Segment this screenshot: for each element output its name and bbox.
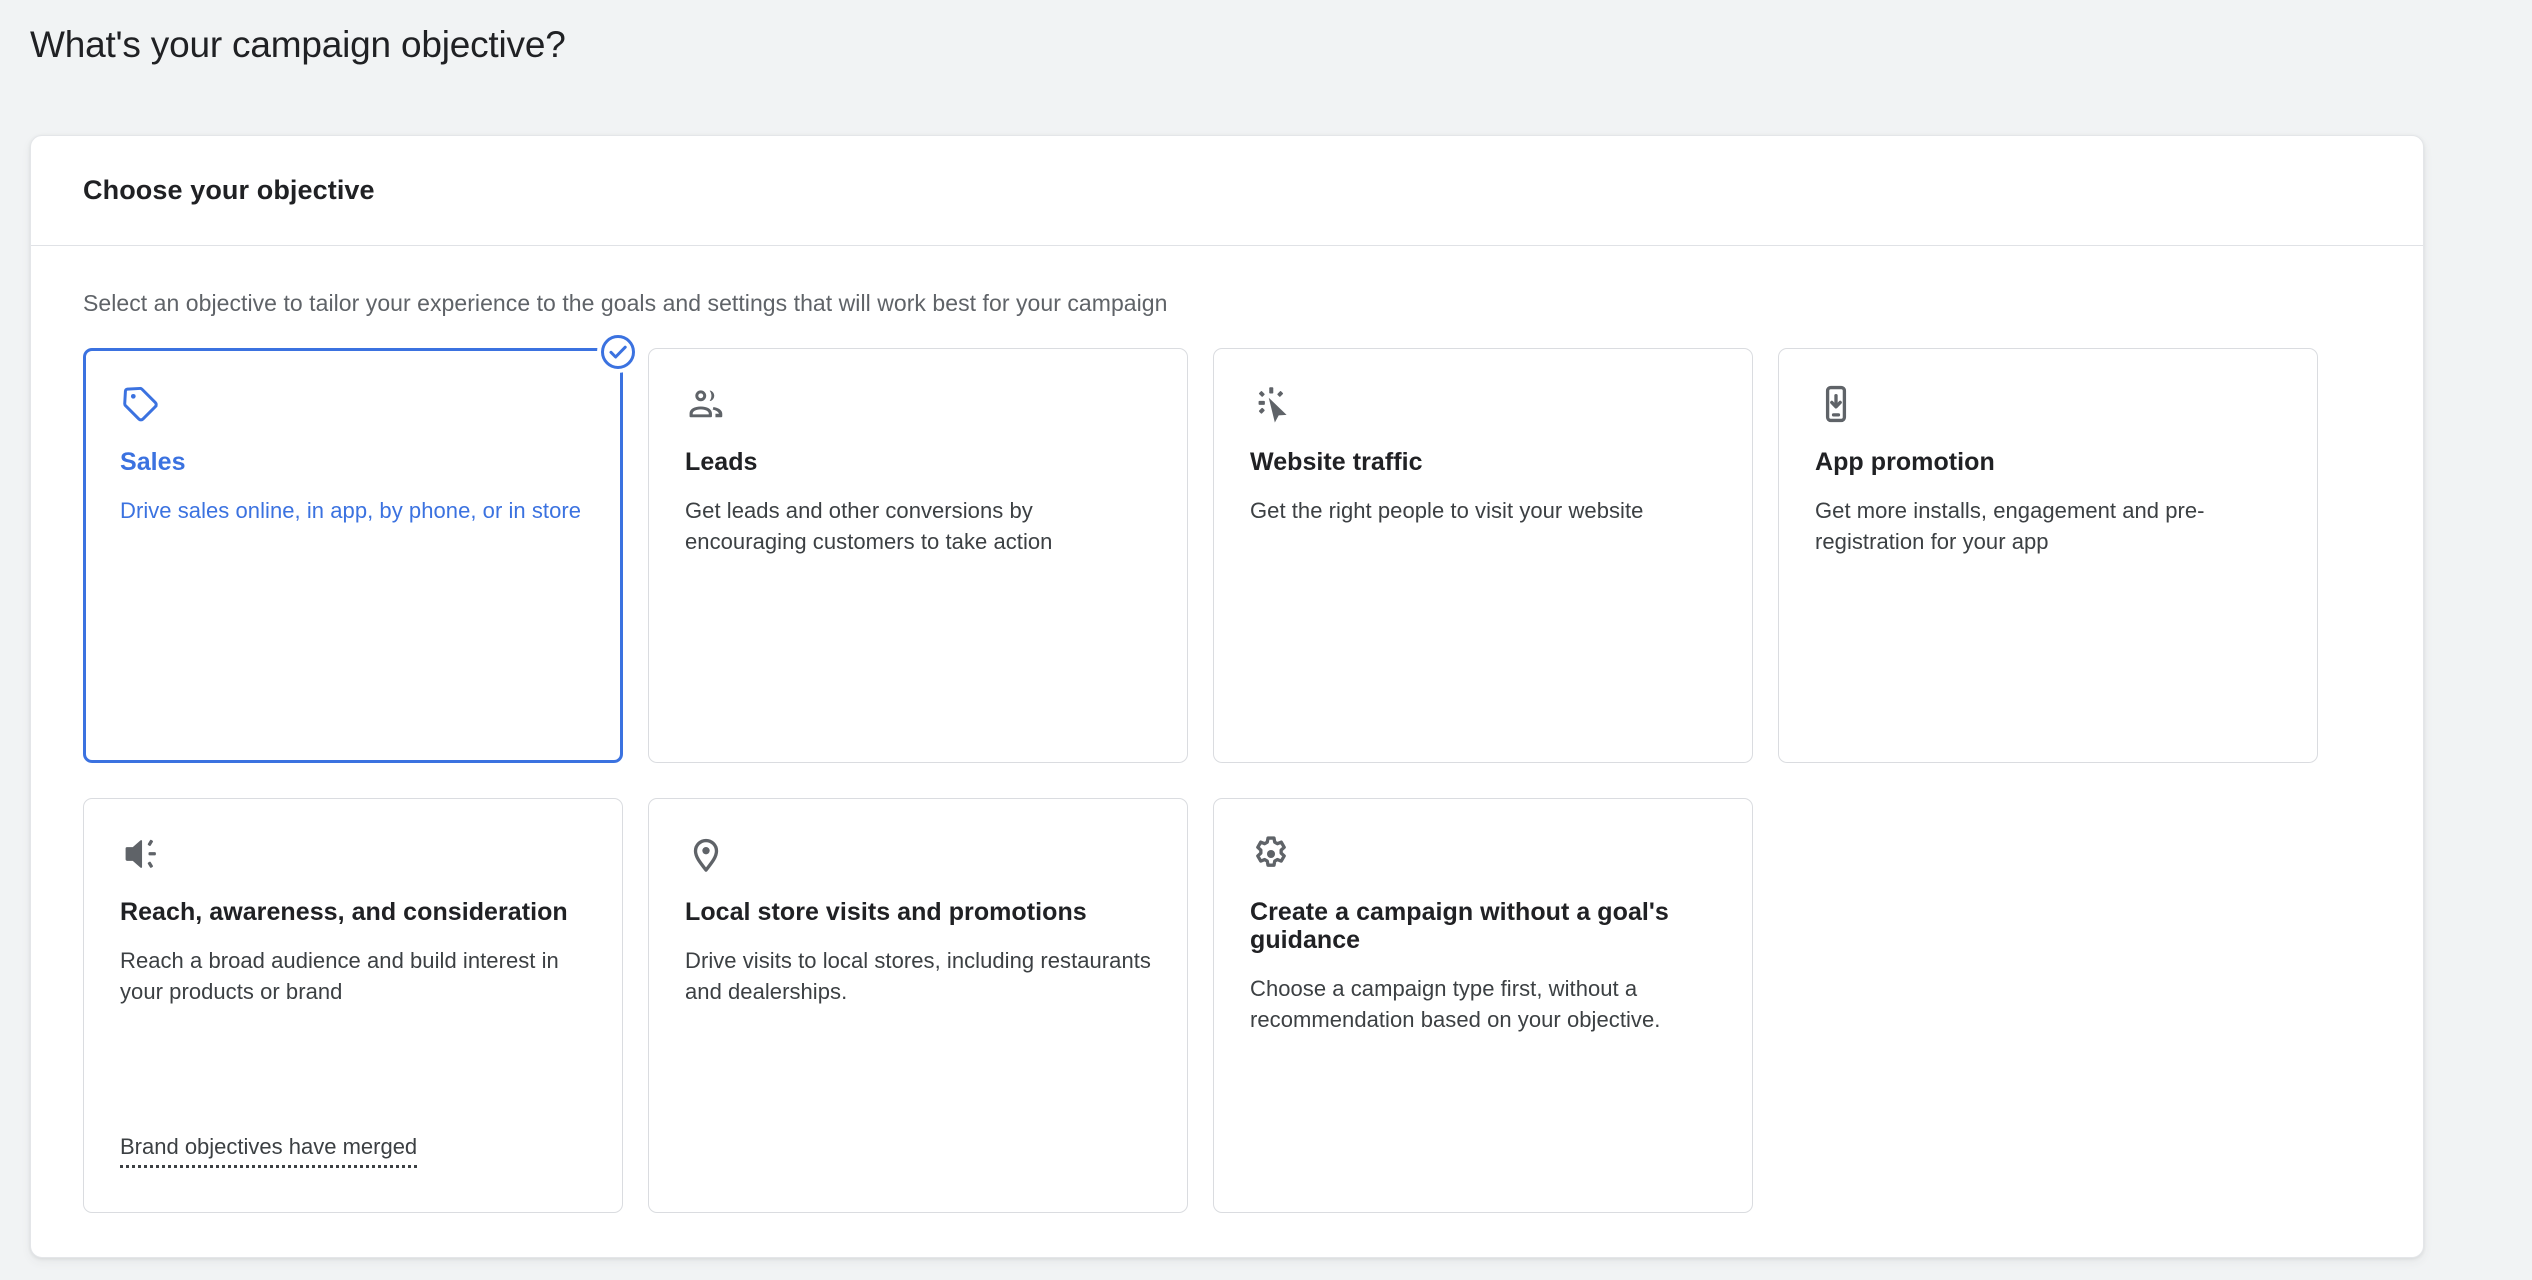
objective-card-description: Get more installs, engagement and pre-re… (1815, 495, 2281, 557)
objective-card-app-promotion[interactable]: App promotion Get more installs, engagem… (1778, 348, 2318, 763)
people-group-icon (685, 383, 1151, 435)
objective-card-title: Local store visits and promotions (685, 898, 1151, 926)
objective-card-local-store-visits[interactable]: Local store visits and promotions Drive … (648, 798, 1188, 1213)
page-title: What's your campaign objective? (30, 24, 566, 66)
check-circle-icon (597, 331, 639, 373)
brand-objectives-merged-link[interactable]: Brand objectives have merged (120, 1133, 417, 1168)
objective-card-no-goal-guidance[interactable]: Create a campaign without a goal's guida… (1213, 798, 1753, 1213)
objective-card-description: Drive sales online, in app, by phone, or… (120, 495, 586, 526)
panel-body: Select an objective to tailor your exper… (31, 246, 2423, 1213)
objective-card-title: Create a campaign without a goal's guida… (1250, 898, 1716, 954)
panel-header-title: Choose your objective (83, 175, 375, 206)
phone-download-icon (1815, 383, 2281, 435)
objective-card-title: App promotion (1815, 448, 2281, 476)
objective-card-description: Get the right people to visit your websi… (1250, 495, 1716, 526)
objective-card-description: Drive visits to local stores, including … (685, 945, 1151, 1007)
megaphone-icon (120, 833, 586, 885)
objective-card-leads[interactable]: Leads Get leads and other conversions by… (648, 348, 1188, 763)
cursor-click-icon (1250, 383, 1716, 435)
objective-card-description: Choose a campaign type first, without a … (1250, 973, 1716, 1035)
objective-card-reach-awareness[interactable]: Reach, awareness, and consideration Reac… (83, 798, 623, 1213)
location-pin-icon (685, 833, 1151, 885)
objective-card-sales[interactable]: Sales Drive sales online, in app, by pho… (83, 348, 623, 763)
tag-icon (120, 383, 586, 435)
objective-card-description: Reach a broad audience and build interes… (120, 945, 586, 1007)
panel-subtitle: Select an objective to tailor your exper… (83, 290, 2371, 317)
objective-card-website-traffic[interactable]: Website traffic Get the right people to … (1213, 348, 1753, 763)
objective-panel: Choose your objective Select an objectiv… (30, 135, 2424, 1258)
objective-card-title: Leads (685, 448, 1151, 476)
objective-card-description: Get leads and other conversions by encou… (685, 495, 1151, 557)
objective-card-title: Website traffic (1250, 448, 1716, 476)
panel-header: Choose your objective (31, 136, 2423, 246)
objective-card-title: Sales (120, 448, 586, 476)
gear-icon (1250, 833, 1716, 885)
objective-card-title: Reach, awareness, and consideration (120, 898, 586, 926)
objective-card-grid: Sales Drive sales online, in app, by pho… (83, 348, 2288, 1213)
